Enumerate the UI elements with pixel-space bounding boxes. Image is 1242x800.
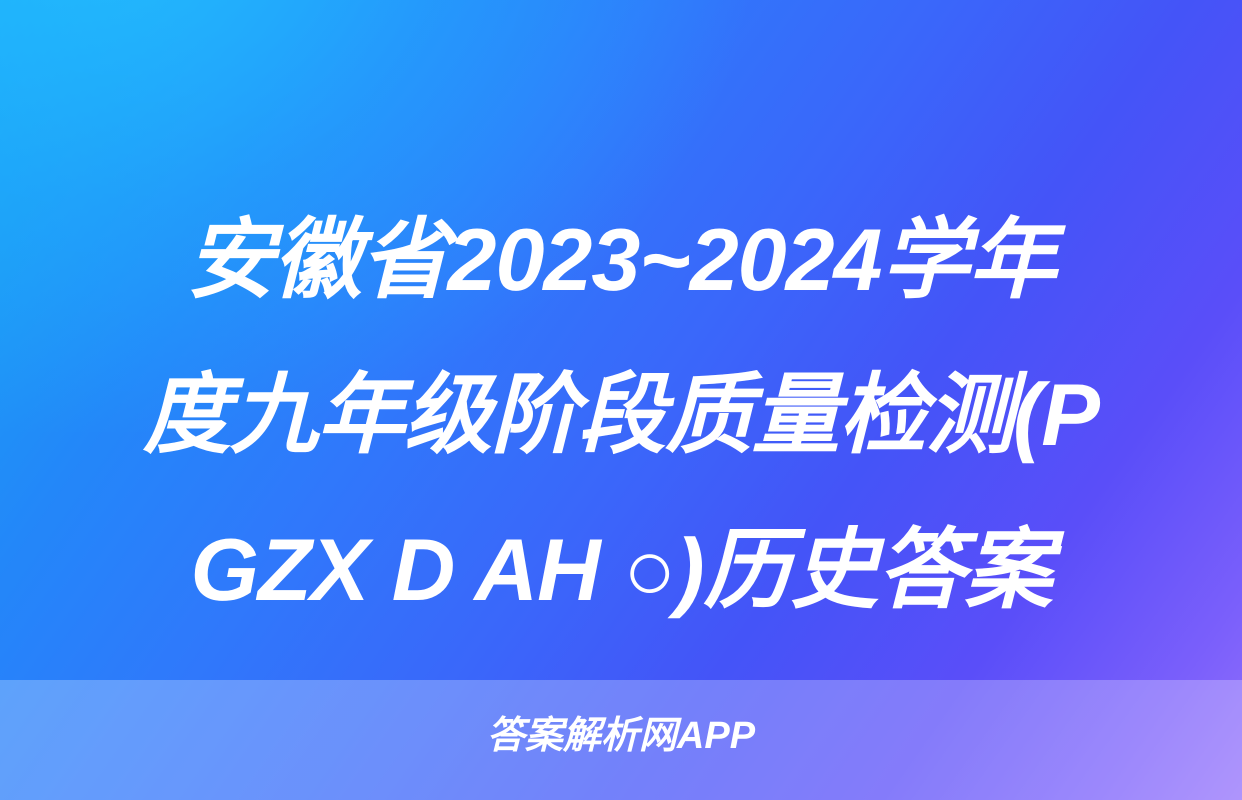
watermark-label: 答案解析网APP bbox=[487, 717, 755, 755]
footer-watermark: 答案解析网APP bbox=[0, 708, 1242, 764]
poster-title: 安徽省2023~2024学年 度九年级阶段质量检测(P GZX D AH ○)历… bbox=[0, 182, 1242, 647]
title-line-1: 安徽省2023~2024学年 bbox=[24, 182, 1218, 337]
title-line-3: GZX D AH ○)历史答案 bbox=[24, 492, 1218, 647]
poster-canvas: 安徽省2023~2024学年 度九年级阶段质量检测(P GZX D AH ○)历… bbox=[0, 0, 1242, 800]
title-line-2: 度九年级阶段质量检测(P bbox=[24, 337, 1218, 492]
